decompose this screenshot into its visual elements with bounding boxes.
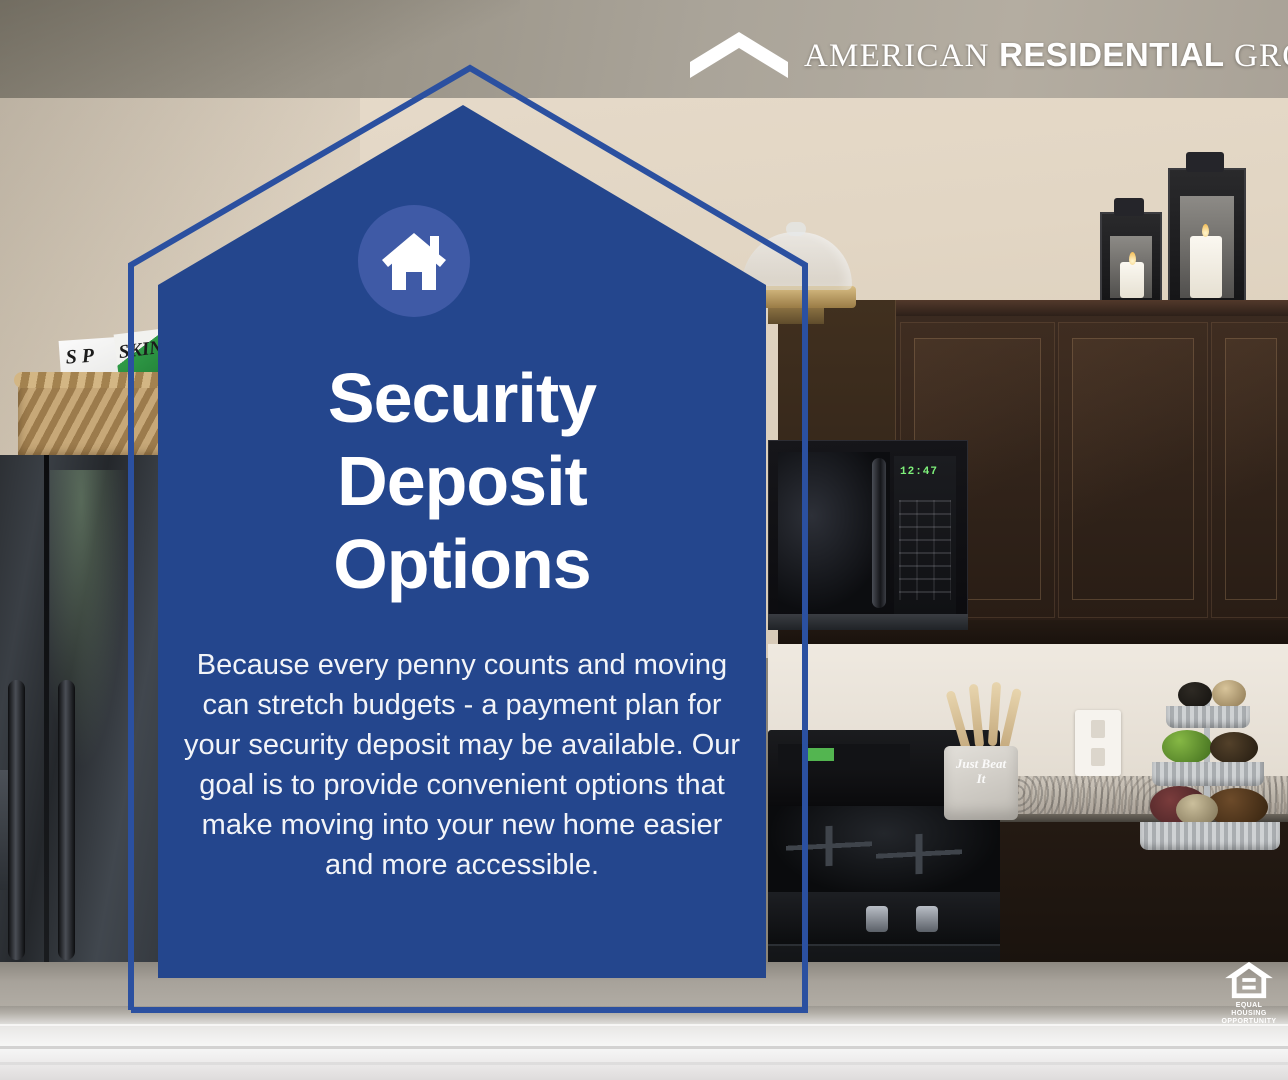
page-title: Security Deposit Options	[158, 357, 766, 606]
brand-logo: AMERICAN RESIDENTIAL GROUP	[690, 25, 1270, 85]
eho-line-2: OPPORTUNITY	[1218, 1018, 1280, 1026]
content-card: Security Deposit Options Because every p…	[158, 105, 766, 978]
brand-name-part3: GROUP	[1225, 38, 1288, 74]
body-paragraph: Because every penny counts and moving ca…	[174, 645, 750, 885]
house-icon-badge	[358, 205, 470, 317]
promo-graphic: 12:47 Just Beat It	[0, 0, 1288, 1080]
chevron-roof-icon	[690, 32, 788, 78]
brand-name-part1: AMERICAN	[804, 38, 999, 74]
title-line: Options	[158, 523, 766, 606]
brand-name: AMERICAN RESIDENTIAL GROUP	[804, 36, 1288, 75]
equal-housing-logo: EQUAL HOUSING OPPORTUNITY	[1218, 960, 1280, 1026]
title-line: Security	[158, 357, 766, 440]
equal-housing-text: EQUAL HOUSING OPPORTUNITY	[1218, 1002, 1280, 1026]
eho-line-1: EQUAL HOUSING	[1218, 1002, 1280, 1018]
title-line: Deposit	[158, 440, 766, 523]
equal-housing-icon	[1223, 960, 1275, 1000]
house-icon	[378, 228, 450, 294]
brand-name-part2: RESIDENTIAL	[999, 36, 1225, 73]
